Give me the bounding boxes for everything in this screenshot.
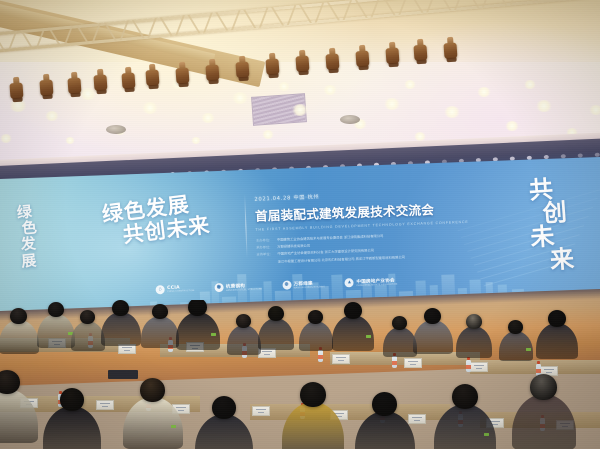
downlight: [589, 105, 600, 115]
audience-member-head: [548, 310, 566, 327]
attendee-badge: [171, 425, 176, 428]
stage-light: [355, 50, 369, 67]
organizer-key: 承办单位:: [256, 244, 273, 250]
pin-icon: ◉: [214, 283, 223, 292]
downlight: [384, 98, 400, 110]
stage-light: [175, 67, 189, 84]
audience-member-head: [372, 392, 397, 416]
water-bottle: [318, 350, 323, 362]
truss-member: [104, 23, 117, 41]
downlight: [414, 132, 426, 141]
audience-member-torso: [299, 321, 333, 351]
downlight: [477, 87, 491, 97]
stage-light: [145, 70, 159, 87]
downlight: [536, 100, 552, 112]
downlight: [45, 111, 59, 121]
sponsor-logo: ⊕万郡绿建WANJUN GREEN BUILDING: [282, 279, 325, 290]
truss-member: [48, 28, 61, 46]
sponsor-logo: ▲中国房地产业协会CHINA REAL ESTATE ASSOCIATION: [345, 277, 398, 288]
audience-member-head: [212, 396, 236, 419]
downlight: [201, 113, 215, 123]
audience-member-torso: [71, 321, 105, 351]
audience-table: [470, 360, 600, 374]
truss-member: [215, 12, 228, 30]
downlight: [292, 104, 308, 116]
ceiling-speaker: [106, 125, 126, 134]
audience-member-torso: [37, 314, 75, 348]
audience-member-head: [424, 308, 441, 324]
downlight: [524, 80, 536, 89]
audience-member-head: [48, 302, 64, 317]
calligraphy-left-char-4: 展: [11, 251, 46, 270]
downlight: [444, 106, 460, 118]
attendee-badge: [211, 333, 216, 336]
truss-member: [299, 5, 312, 23]
organizer-key: 主办单位:: [256, 237, 273, 243]
audience-member-torso: [176, 312, 220, 350]
conference-hall-photo: 绿 色 发 展 绿色发展 共创未来 2021.04.28 中国·杭州 首届装配式…: [0, 0, 600, 449]
audience-member-head: [112, 300, 129, 316]
audience-member-torso: [512, 394, 576, 449]
downlight: [142, 102, 158, 114]
event-main-title: 首届装配式建筑发展技术交流会: [255, 199, 441, 225]
stage-light: [235, 62, 249, 79]
name-card: [470, 362, 488, 372]
globe-icon: ⊕: [282, 280, 291, 289]
audience-member-torso: [227, 325, 261, 355]
organizer-list: 主办单位:中国建筑工业协会建筑技术与发展专业委员会 浙江绿筑集成科技有限公司承办…: [256, 231, 442, 264]
downlight: [262, 130, 274, 139]
name-card: [252, 406, 270, 416]
audience-member-torso: [413, 320, 453, 354]
truss-member: [327, 2, 340, 20]
audience-member-torso: [43, 406, 101, 449]
stage-light: [205, 64, 219, 81]
name-card: [96, 400, 114, 410]
audience-member-head: [530, 374, 557, 400]
attendee-badge: [484, 433, 489, 436]
downlight: [505, 121, 519, 131]
audience-area: [0, 300, 600, 449]
water-bottle: [392, 356, 397, 368]
sponsor-logo: ◉杭萧钢构HANGXIAO STEEL STRUCTURE: [214, 281, 262, 292]
triangle-icon: ▲: [345, 278, 354, 287]
audience-member-head: [308, 310, 323, 324]
stage-light: [67, 77, 81, 94]
downlight: [404, 80, 416, 89]
laptop: [108, 370, 138, 379]
truss-member: [132, 20, 145, 38]
water-bottle: [466, 360, 471, 372]
audience-member-head: [80, 310, 95, 324]
audience-member-torso: [536, 323, 578, 359]
organizer-value: 万郡绿建科技有限公司: [277, 243, 310, 249]
audience-member-head: [300, 382, 326, 407]
audience-member-head: [392, 316, 407, 330]
audience-member-torso: [101, 312, 141, 346]
stage-light: [121, 72, 135, 89]
sponsor-logo: ⌂CCIACHINA CONSTRUCTION: [155, 284, 194, 294]
stage-light: [93, 75, 107, 92]
audience-member-torso: [141, 316, 179, 348]
calligraphy-right-char-4: 来: [549, 245, 597, 272]
ceiling-speaker: [340, 115, 360, 124]
audience-member-torso: [499, 331, 533, 361]
sponsor-logo-en: CHINA CONSTRUCTION: [167, 290, 194, 293]
truss-member: [271, 7, 284, 25]
audience-member-head: [10, 308, 27, 324]
audience-member-torso: [258, 318, 294, 350]
stage-light: [9, 83, 23, 100]
attendee-badge: [526, 348, 531, 351]
truss-member: [76, 25, 89, 43]
screen-title-block: 2021.04.28 中国·杭州 首届装配式建筑发展技术交流会 THE FIRS…: [254, 189, 441, 266]
audience-member-head: [344, 302, 362, 319]
truss-member: [355, 0, 368, 18]
audience-member-head: [188, 300, 207, 316]
truss-member: [20, 30, 33, 48]
audience-member-torso: [0, 320, 39, 354]
stage-light: [295, 56, 309, 73]
audience-member-head: [60, 388, 84, 411]
stage-light: [413, 45, 427, 62]
name-card: [408, 414, 426, 424]
stage-light: [443, 42, 457, 59]
audience-member-head: [466, 314, 482, 329]
calligraphy-left: 绿 色 发 展: [7, 203, 47, 271]
downlight: [80, 88, 96, 100]
circle-arch-icon: ⌂: [155, 285, 164, 294]
truss-member: [243, 10, 256, 28]
organizer-key: [257, 259, 274, 260]
attendee-badge: [366, 335, 371, 338]
name-card: [332, 354, 350, 364]
audience-member-head: [236, 314, 251, 328]
stage-light: [265, 59, 279, 76]
calligraphy-right: 共 创 未 来: [528, 174, 597, 272]
audience-member-torso: [456, 326, 492, 358]
downlight: [278, 82, 290, 91]
stage-light: [385, 48, 399, 65]
downlight: [323, 85, 337, 95]
organizer-key: 支持单位:: [256, 251, 273, 257]
audience-member-torso: [383, 327, 417, 357]
stage-light: [325, 53, 339, 70]
audience-member-torso: [332, 315, 374, 351]
audience-member-head: [140, 378, 165, 402]
downlight: [232, 92, 248, 104]
audience-member-head: [152, 304, 168, 319]
stage-light: [39, 80, 53, 97]
truss-member: [160, 17, 173, 35]
audience-member-head: [268, 306, 284, 321]
audience-member-torso: [195, 414, 253, 449]
audience-member-head: [452, 384, 478, 409]
truss-member: [188, 15, 201, 33]
downlight: [0, 134, 12, 143]
name-card: [404, 358, 422, 368]
audience-member-head: [508, 320, 523, 334]
